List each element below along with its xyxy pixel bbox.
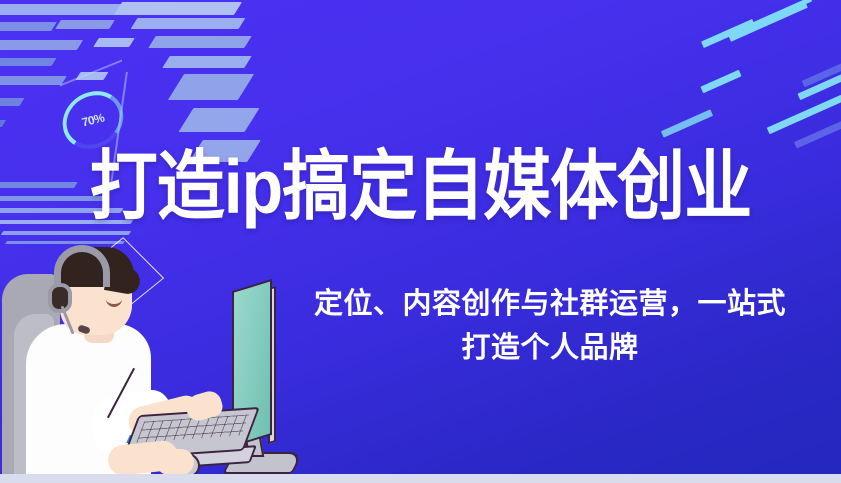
- stripe-bar: [114, 2, 242, 15]
- stripe-bar: [168, 74, 254, 100]
- accent-streak: [701, 19, 755, 48]
- stripe-bar: [0, 40, 83, 50]
- accent-streak: [797, 67, 841, 100]
- subtitle-line-2: 打造个人品牌: [270, 326, 830, 370]
- accent-streak: [794, 110, 841, 148]
- stripe-bar: [0, 22, 57, 31]
- subtitle-line-1: 定位、内容创作与社群运营，一站式: [270, 282, 830, 326]
- stripe-bar: [55, 20, 115, 29]
- stripe-bar: [179, 108, 260, 132]
- person-hand-mouse: [156, 449, 194, 475]
- stripe-bar: [0, 4, 123, 15]
- stripe-bar: [93, 38, 135, 47]
- page-subtitle: 定位、内容创作与社群运营，一站式 打造个人品牌: [270, 282, 830, 370]
- page-title: 打造ip搞定自媒体创业: [0, 148, 841, 228]
- stripe-bar: [76, 72, 109, 80]
- promo-poster: 70% 打造ip搞定自媒体创业 定位、内容创作与社群运营，一站式 打造个人品牌: [0, 0, 841, 483]
- stripe-bar: [0, 120, 6, 127]
- accent-streak: [802, 52, 841, 88]
- stripe-bar: [0, 76, 67, 85]
- stripe-bar: [0, 98, 24, 106]
- desk-surface: [0, 474, 841, 483]
- accent-streak: [661, 109, 713, 137]
- accent-streak: [767, 89, 841, 134]
- stripe-bar: [131, 18, 246, 29]
- accent-streak: [750, 0, 812, 28]
- workstation-illustration: [0, 238, 330, 483]
- accent-streak: [728, 1, 808, 42]
- stripe-bar: [1, 231, 131, 235]
- accent-streak: [700, 70, 741, 93]
- headphone-earcup-icon: [48, 283, 72, 313]
- stripe-bar: [148, 36, 251, 48]
- stripe-bar: [162, 56, 251, 68]
- stripe-bar: [0, 58, 56, 66]
